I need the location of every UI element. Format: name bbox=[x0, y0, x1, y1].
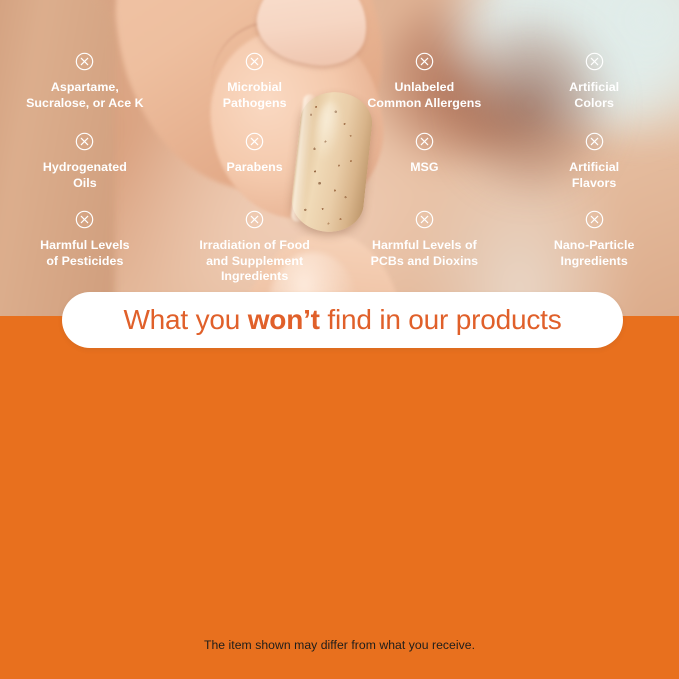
circle-x-icon bbox=[75, 210, 94, 229]
circle-x-icon bbox=[415, 132, 434, 151]
grid-item-nano-particle: Nano-Particle Ingredients bbox=[509, 210, 679, 305]
circle-x-icon bbox=[245, 132, 264, 151]
grid-row-2: Hydrogenated Oils Parabens MSG bbox=[0, 132, 679, 210]
grid-item-hydrogenated-oils: Hydrogenated Oils bbox=[0, 132, 170, 210]
headline-part-2: find in our products bbox=[320, 304, 562, 335]
grid-item-label: Harmful Levels of PCBs and Dioxins bbox=[371, 238, 479, 269]
grid-item-label: Irradiation of Food and Supplement Ingre… bbox=[199, 238, 309, 285]
product-info-card: What you won’t find in our products Aspa… bbox=[0, 0, 679, 679]
grid-item-artificial-flavors: Artificial Flavors bbox=[509, 132, 679, 210]
circle-x-icon bbox=[245, 52, 264, 71]
grid-item-label: Artificial Colors bbox=[569, 80, 619, 111]
grid-row-3: Harmful Levels of Pesticides Irradiation… bbox=[0, 210, 679, 305]
headline-banner: What you won’t find in our products bbox=[62, 292, 623, 348]
circle-x-icon bbox=[585, 52, 604, 71]
circle-x-icon bbox=[585, 210, 604, 229]
grid-row-1: Aspartame, Sucralose, or Ace K Microbial… bbox=[0, 52, 679, 132]
grid-item-pesticides: Harmful Levels of Pesticides bbox=[0, 210, 170, 305]
excluded-ingredients-grid: Aspartame, Sucralose, or Ace K Microbial… bbox=[0, 52, 679, 305]
grid-item-label: Microbial Pathogens bbox=[223, 80, 287, 111]
grid-item-unlabeled-allergens: Unlabeled Common Allergens bbox=[340, 52, 510, 132]
circle-x-icon bbox=[585, 132, 604, 151]
circle-x-icon bbox=[75, 52, 94, 71]
headline-text: What you won’t find in our products bbox=[123, 304, 561, 336]
grid-item-label: MSG bbox=[410, 160, 438, 176]
grid-item-msg: MSG bbox=[340, 132, 510, 210]
grid-item-label: Parabens bbox=[227, 160, 283, 176]
grid-item-microbial-pathogens: Microbial Pathogens bbox=[170, 52, 340, 132]
grid-item-label: Hydrogenated Oils bbox=[43, 160, 127, 191]
claims-panel bbox=[0, 316, 679, 679]
grid-item-irradiation: Irradiation of Food and Supplement Ingre… bbox=[170, 210, 340, 305]
grid-item-artificial-colors: Artificial Colors bbox=[509, 52, 679, 132]
grid-item-label: Harmful Levels of Pesticides bbox=[40, 238, 130, 269]
grid-item-label: Unlabeled Common Allergens bbox=[367, 80, 481, 111]
circle-x-icon bbox=[75, 132, 94, 151]
grid-item-label: Artificial Flavors bbox=[569, 160, 619, 191]
headline-emphasis: won’t bbox=[248, 304, 320, 335]
grid-item-aspartame: Aspartame, Sucralose, or Ace K bbox=[0, 52, 170, 132]
circle-x-icon bbox=[415, 210, 434, 229]
grid-item-pcbs-dioxins: Harmful Levels of PCBs and Dioxins bbox=[340, 210, 510, 305]
grid-item-label: Aspartame, Sucralose, or Ace K bbox=[26, 80, 144, 111]
headline-part-1: What you bbox=[123, 304, 247, 335]
grid-item-label: Nano-Particle Ingredients bbox=[554, 238, 635, 269]
grid-item-parabens: Parabens bbox=[170, 132, 340, 210]
circle-x-icon bbox=[245, 210, 264, 229]
disclaimer-text: The item shown may differ from what you … bbox=[0, 638, 679, 652]
circle-x-icon bbox=[415, 52, 434, 71]
